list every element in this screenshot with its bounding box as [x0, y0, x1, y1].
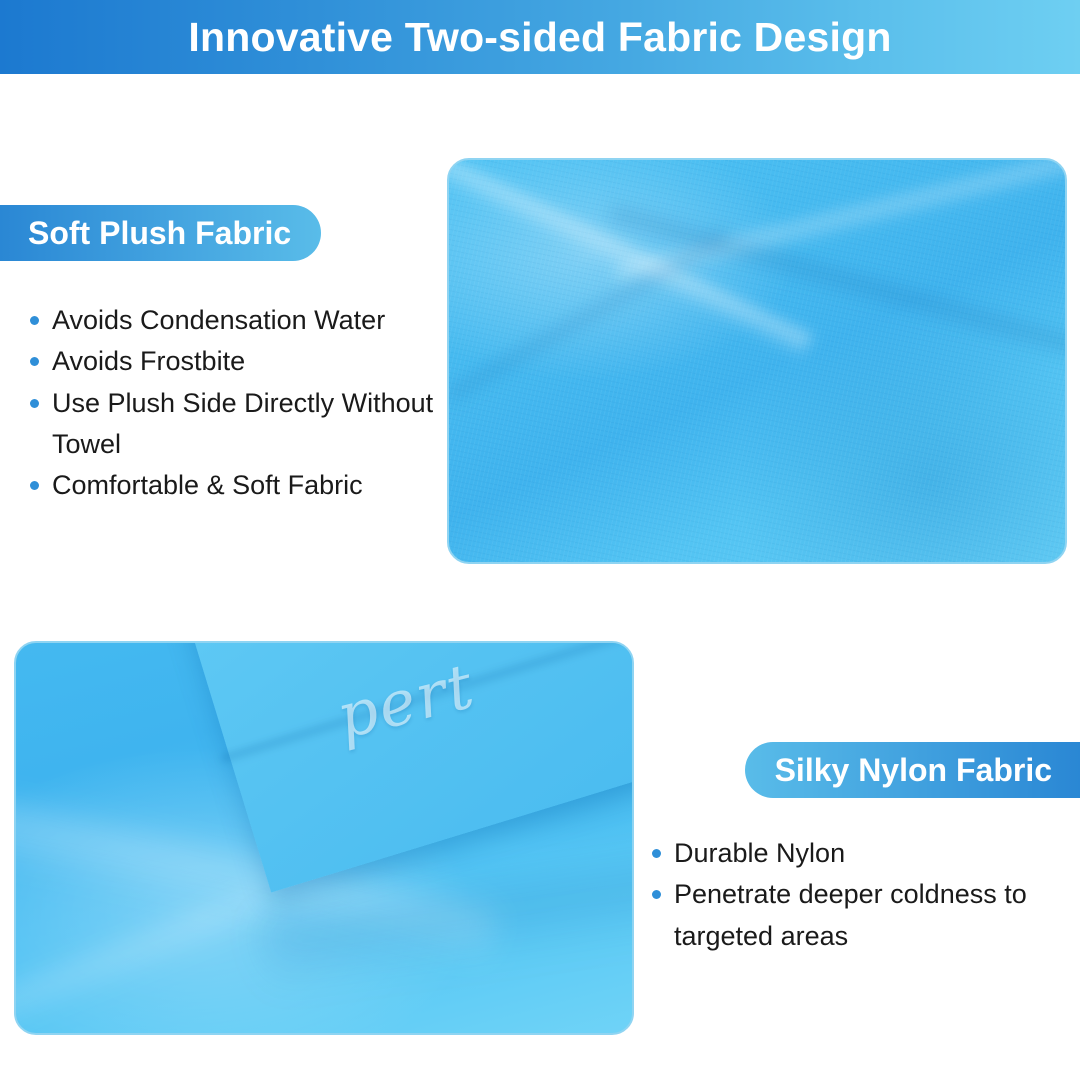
header-banner: Innovative Two-sided Fabric Design	[0, 0, 1080, 74]
page-title: Innovative Two-sided Fabric Design	[188, 17, 891, 58]
infographic-page: Innovative Two-sided Fabric Design Soft …	[0, 0, 1080, 1080]
list-item: Avoids Condensation Water	[24, 300, 444, 341]
section-label-soft-plush: Soft Plush Fabric	[0, 205, 321, 261]
plush-fabric-photo	[447, 158, 1067, 564]
feature-list-soft-plush: Avoids Condensation Water Avoids Frostbi…	[24, 300, 444, 506]
list-item: Penetrate deeper coldness to targeted ar…	[646, 874, 1066, 957]
feature-list-silky-nylon: Durable Nylon Penetrate deeper coldness …	[646, 833, 1066, 957]
bullet-dot-icon	[24, 465, 44, 490]
bullet-dot-icon	[646, 874, 666, 899]
bullet-dot-icon	[24, 383, 44, 408]
list-item: Comfortable & Soft Fabric	[24, 465, 444, 506]
bullet-dot-icon	[24, 341, 44, 366]
list-item: Avoids Frostbite	[24, 341, 444, 382]
nylon-sheen	[14, 888, 273, 1035]
nylon-fabric-photo: pert	[14, 641, 634, 1035]
list-item: Use Plush Side Directly Without Towel	[24, 383, 444, 466]
section-label-silky-nylon: Silky Nylon Fabric	[745, 742, 1080, 798]
bullet-dot-icon	[24, 300, 44, 325]
bullet-dot-icon	[646, 833, 666, 858]
list-item: Durable Nylon	[646, 833, 1066, 874]
